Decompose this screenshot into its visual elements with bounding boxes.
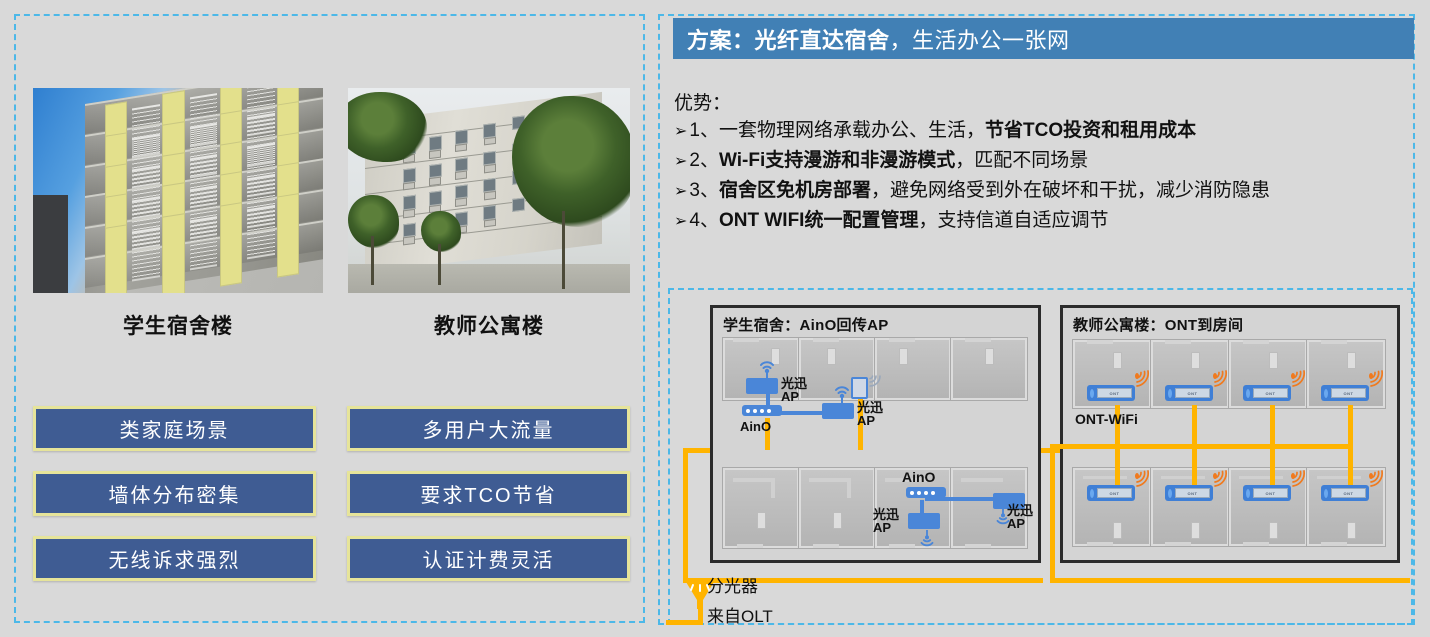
solution-title-prefix: 方案：光纤直达宿舍 xyxy=(687,23,890,55)
feature-button-multiuser-traffic[interactable]: 多用户大流量 xyxy=(347,406,630,451)
wifi-signal-icon xyxy=(866,372,884,390)
wifi-signal-icon xyxy=(1133,468,1151,488)
bullet-arrow-icon: ➢ xyxy=(674,124,687,140)
fiber-drop-4 xyxy=(1348,405,1353,447)
advantage-text-1b: 节省TCO投资和租用成本 xyxy=(985,121,1196,140)
aino-label-1: AinO xyxy=(740,420,771,433)
guangxun-ap-device-2 xyxy=(822,403,854,419)
student-dormitory-diagram-title: 学生宿舍：AinO回传AP xyxy=(723,314,889,335)
slide-root: 学生宿舍楼 xyxy=(0,0,1430,637)
bullet-arrow-icon: ➢ xyxy=(674,154,687,170)
solution-title-suffix: ，生活办公一张网 xyxy=(890,23,1070,55)
advantage-item-3: ➢ 3、 宿舍区免机房部署 ，避免网络受到外在破坏和干扰，减少消防隐患 xyxy=(674,181,1414,200)
advantage-number-2: 2、 xyxy=(689,151,719,170)
advantage-text-4c: ，支持信道自适应调节 xyxy=(918,211,1108,230)
advantages-block: 优势： ➢ 1、 一套物理网络承载办公、生活， 节省TCO投资和租用成本 ➢ 2… xyxy=(674,88,1414,241)
advantage-text-3c: ，避免网络受到外在破坏和干扰，减少消防隐患 xyxy=(871,181,1270,200)
advantage-item-4: ➢ 4、 ONT WIFI统一配置管理 ，支持信道自适应调节 xyxy=(674,211,1414,230)
advantage-text-1a: 一套物理网络承载办公、生活， xyxy=(719,121,985,140)
feature-button-wireless-demand[interactable]: 无线诉求强烈 xyxy=(33,536,316,581)
wifi-signal-icon xyxy=(916,530,938,552)
ont-device-8: ONT xyxy=(1321,485,1369,501)
wifi-signal-icon xyxy=(1367,468,1385,488)
ont-device-2: ONT xyxy=(1165,385,1213,401)
fiber-trunk-vertical xyxy=(683,448,688,583)
room xyxy=(723,468,799,548)
wifi-signal-icon xyxy=(755,355,779,379)
ont-wifi-label: ONT-WiFi xyxy=(1075,412,1138,426)
guangxun-ap-label-3: 光迅AP xyxy=(873,508,899,534)
ont-device-4: ONT xyxy=(1321,385,1369,401)
fiber-bottom-right xyxy=(1050,578,1410,583)
room xyxy=(875,338,951,400)
ground xyxy=(348,264,630,293)
bullet-arrow-icon: ➢ xyxy=(674,184,687,200)
advantage-number-1: 1、 xyxy=(689,121,719,140)
guangxun-ap-device-3 xyxy=(908,513,940,529)
guangxun-ap-device-1 xyxy=(746,378,778,394)
aino-label-2: AinO xyxy=(902,470,935,484)
advantage-number-3: 3、 xyxy=(689,181,719,200)
teacher-apartment-photo xyxy=(348,88,630,293)
student-dormitory-photo xyxy=(33,88,323,293)
olt-source-label: 来自OLT xyxy=(707,602,773,627)
guangxun-ap-label-2: 光迅AP xyxy=(857,401,883,427)
fiber-distribution-bus xyxy=(1050,444,1350,449)
ont-device-1: ONT xyxy=(1087,385,1135,401)
advantage-item-1: ➢ 1、 一套物理网络承载办公、生活， 节省TCO投资和租用成本 xyxy=(674,121,1414,140)
wifi-signal-icon xyxy=(1211,468,1229,488)
feature-button-tco-saving[interactable]: 要求TCO节省 xyxy=(347,471,630,516)
advantages-heading: 优势： xyxy=(674,88,1414,115)
splitter-label: 分光器 xyxy=(707,572,758,597)
wifi-signal-icon xyxy=(1211,368,1229,388)
fiber-from-olt-h xyxy=(666,620,702,625)
aino-device-1 xyxy=(742,405,782,416)
guangxun-ap-label-1: 光迅AP xyxy=(781,377,807,403)
feature-button-flexible-billing[interactable]: 认证计费灵活 xyxy=(347,536,630,581)
adjacent-dark-building xyxy=(33,195,68,293)
fiber-riser-right xyxy=(1050,448,1055,578)
dormitory-building xyxy=(85,88,323,293)
room xyxy=(951,338,1027,400)
bullet-arrow-icon: ➢ xyxy=(674,214,687,230)
wifi-signal-icon xyxy=(1133,368,1151,388)
solution-title-bar: 方案：光纤直达宿舍，生活办公一张网 xyxy=(673,18,1414,59)
advantage-item-2: ➢ 2、 Wi-Fi支持漫游和非漫游模式 ，匹配不同场景 xyxy=(674,151,1414,170)
advantage-text-2b: Wi-Fi支持漫游和非漫游模式 xyxy=(719,151,955,170)
guangxun-ap-label-4: 光迅AP xyxy=(1007,504,1033,530)
advantage-text-2c: ，匹配不同场景 xyxy=(955,151,1088,170)
wifi-signal-icon xyxy=(1289,468,1307,488)
advantage-number-4: 4、 xyxy=(689,211,719,230)
teacher-apartment-diagram-title: 教师公寓楼：ONT到房间 xyxy=(1073,314,1243,335)
ont-device-3: ONT xyxy=(1243,385,1291,401)
wifi-signal-icon xyxy=(1367,368,1385,388)
ont-device-7: ONT xyxy=(1243,485,1291,501)
fiber-drop-3 xyxy=(1270,405,1275,447)
advantage-text-4b: ONT WIFI统一配置管理 xyxy=(719,211,918,230)
room xyxy=(799,468,875,548)
advantage-text-3b: 宿舍区免机房部署 xyxy=(719,181,871,200)
photo-caption-student: 学生宿舍楼 xyxy=(33,310,323,340)
photo-caption-teacher: 教师公寓楼 xyxy=(348,310,630,340)
feature-button-dense-walls[interactable]: 墙体分布密集 xyxy=(33,471,316,516)
wifi-signal-icon xyxy=(1289,368,1307,388)
fiber-drop-2 xyxy=(1192,405,1197,447)
ont-device-6: ONT xyxy=(1165,485,1213,501)
feature-button-home-scenario[interactable]: 类家庭场景 xyxy=(33,406,316,451)
aino-device-2 xyxy=(906,487,946,498)
ont-device-5: ONT xyxy=(1087,485,1135,501)
